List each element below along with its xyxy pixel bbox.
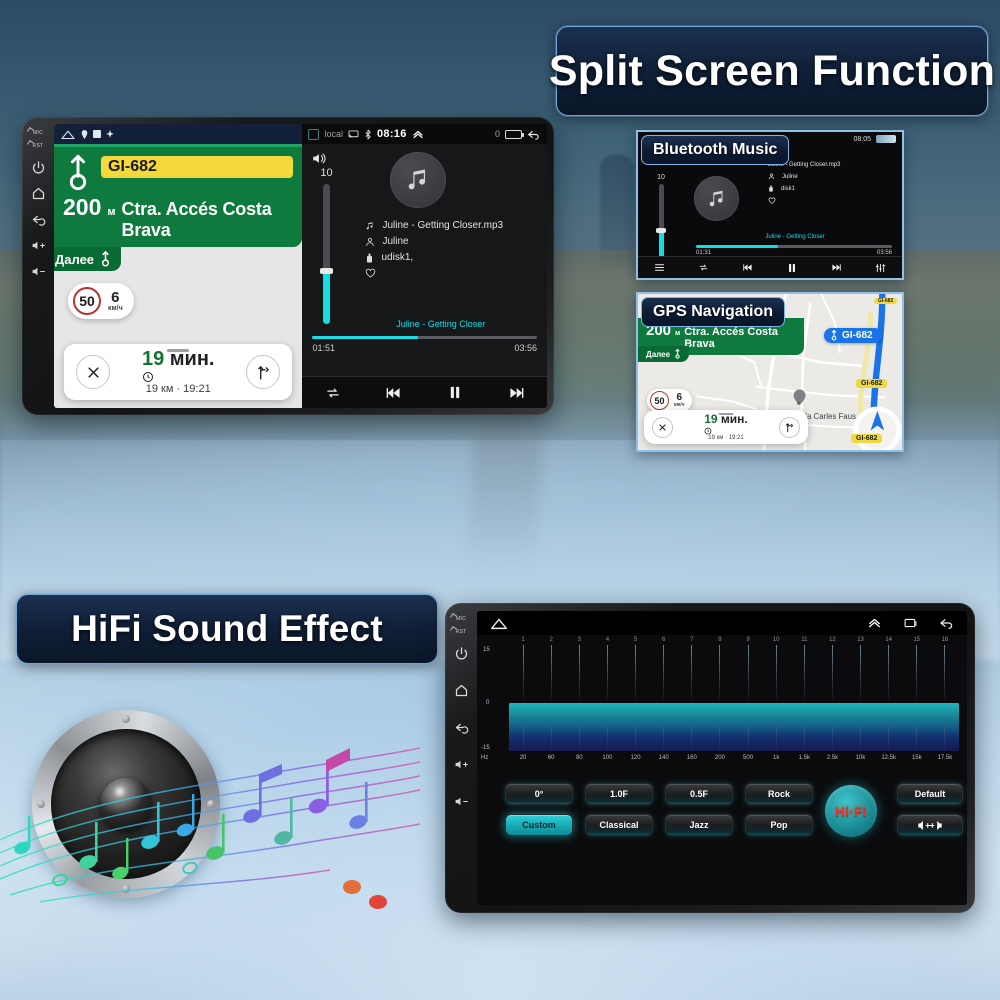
nav-instruction-card: GI-682 200 м Ctra. Accés Costa Brava [54,147,302,247]
eq-tick [903,645,931,700]
back-icon[interactable] [31,212,46,227]
album-art [390,152,446,208]
balance-button[interactable] [897,814,963,836]
bt-track-metadata: Juline - Getting Closer.mp3 Juline disk1 [768,162,840,204]
gps-next-maneuver: Далее [638,346,689,362]
home-icon [60,129,76,140]
route-options-icon [255,364,272,381]
reset-label: RST [456,629,467,635]
route-options-button[interactable] [246,355,280,389]
inset-gps-navigation[interactable]: Escola Carles Faus GI-682 GI-682 GI-682 … [636,292,904,452]
mic-label: MIC [33,130,43,136]
gps-speed-limit: 50 [650,391,669,410]
eq-tick [593,645,621,700]
volume-slider[interactable] [323,184,330,324]
eq-band-number: 11 [790,637,818,643]
preset-custom[interactable]: Custom [505,814,573,836]
eq-band-number: 15 [903,637,931,643]
bt-progress-area[interactable]: 01:31 03:56 [696,245,892,256]
eq-tick [875,727,903,751]
eq-unit-screen: 12345678910111213141516 15 0 -15 Hz 2060… [477,611,967,905]
eq-frequency-label: 120 [622,755,650,761]
eq-tick [818,727,846,751]
bt-progress-bar[interactable] [696,245,892,248]
drag-handle[interactable] [167,349,189,352]
main-unit-screen: GI-682 200 м Ctra. Accés Costa Brava Дал… [54,124,547,408]
road [466,420,544,570]
navigation-pane[interactable]: GI-682 200 м Ctra. Accés Costa Brava Дал… [54,124,302,408]
gps-eta-minutes: 19 [704,412,717,426]
eq-tick [509,645,537,700]
eq-frequency-label: 17.5k [931,755,959,761]
eq-band-numbers: 12345678910111213141516 [509,637,959,643]
eq-tick [762,645,790,700]
eq-tick [593,727,621,751]
gps-distance-unit: м [675,330,680,337]
eq-tick [706,727,734,751]
eq-tick [903,727,931,751]
preset-classical[interactable]: Classical [585,814,653,836]
bt-duration-time: 03:56 [877,250,892,256]
speed-indicator: 50 6 км/ч [68,283,134,319]
volume-control[interactable]: 10 [312,152,340,324]
eq-band-number: 3 [565,637,593,643]
repeat-icon[interactable] [325,386,341,400]
eta-detail: 19 км · 19:21 [142,383,215,396]
eq-frequency-label: 100 [593,755,621,761]
gps-route-options-button[interactable] [779,417,800,438]
media-status-bar: local 08:16 0 [302,124,547,144]
eq-tick [875,645,903,700]
bt-media-controls[interactable] [638,256,902,278]
eq-tick [565,645,593,700]
battery-icon [505,130,522,139]
source-row: udisk1, [365,252,503,263]
eq-frequency-label: 160 [678,755,706,761]
app-icon [308,129,319,140]
hifi-knob-label: Hi·Fi [835,804,866,819]
back-icon[interactable] [939,617,955,629]
eq-band-number: 16 [931,637,959,643]
usb-drive-icon [768,185,774,192]
eq-tick [537,727,565,751]
track-metadata: Juline - Getting Closer.mp3 Juline udisk… [365,220,503,278]
volume-down-icon[interactable] [454,794,469,809]
bt-source-row: disk1 [768,185,840,192]
speed-unit: км/ч [108,305,123,312]
gps-icon [106,130,114,139]
duration-time: 03:56 [514,343,537,353]
close-navigation-button[interactable] [76,355,110,389]
equalizer-head-unit: MIC RST 12345678910111213141516 15 0 -15 [445,603,975,913]
eta-card[interactable]: 19 мин. 19 км · 19:21 [64,344,292,400]
eq-band-number: 14 [875,637,903,643]
music-notes-graphic [0,690,420,920]
eq-band-number: 7 [678,637,706,643]
bt-track-artist: Juline [782,174,798,180]
pause-icon[interactable] [448,385,462,400]
eq-tick [847,645,875,700]
person-icon [365,237,375,247]
volume-up-icon[interactable] [31,238,46,253]
eq-band-number: 12 [818,637,846,643]
eq-unit-hardware-buttons: MIC RST [445,603,477,913]
media-player-pane[interactable]: local 08:16 0 10 [302,124,547,408]
track-file-row: Juline - Getting Closer.mp3 [365,220,503,231]
map-shield-bottom: GI-682 [851,434,882,443]
volume-value: 10 [312,167,340,179]
gps-speed-unit: км/ч [674,403,685,408]
preset-0deg[interactable]: 0° [505,783,573,805]
recents-icon [93,130,101,138]
roundabout-small-icon [100,251,111,267]
close-icon [658,423,667,432]
status-source-text: local [324,129,343,139]
eq-tick [762,727,790,751]
pause-icon[interactable] [787,263,797,273]
eq-tick [537,645,565,700]
clock-icon [142,371,154,383]
gps-drag-handle[interactable] [719,413,734,415]
nav-distance: 200 [63,196,101,219]
eq-frequency-label: 15k [903,755,931,761]
clock-icon [704,427,712,435]
reset-label: RST [33,143,44,149]
bt-status-time: 08:05 [853,136,871,143]
eq-frequency-label: 12.5k [875,755,903,761]
eq-band-number: 10 [762,637,790,643]
eq-band-number: 13 [847,637,875,643]
repeat-icon[interactable] [698,263,709,272]
roundabout-small-icon [830,330,838,341]
map-shield-secondary: GI-682 [856,379,887,388]
eq-tick [678,645,706,700]
eq-band-number: 9 [734,637,762,643]
music-note-icon [404,166,432,194]
previous-icon[interactable] [742,263,754,272]
nav-next-label: Далее [55,252,94,267]
favorite-row[interactable] [365,268,503,278]
bt-artist-row: Juline [768,173,840,180]
gps-eta-card[interactable]: 19 мин. 19 км · 19:21 [644,410,808,444]
eq-band-number: 8 [706,637,734,643]
eq-y-max-label: 15 [483,647,490,653]
eq-tick [650,645,678,700]
track-artist: Juline [382,236,408,247]
banner-split-screen: Split Screen Function [556,26,988,116]
bt-volume-slider[interactable] [659,184,664,260]
bt-progress-fill [696,245,778,248]
preset-0-5f[interactable]: 0.5F [665,783,733,805]
balance-speaker-icon [917,819,943,832]
preset-jazz[interactable]: Jazz [665,814,733,836]
eq-y-min-label: -15 [481,745,490,751]
eq-tick [790,645,818,700]
previous-icon[interactable] [385,386,403,400]
eq-frequency-labels: 2060801001201401602005001k1.5k2.5k10k12.… [509,755,959,761]
main-head-unit: MIC RST [22,117,554,415]
eq-tick [790,727,818,751]
route-options-icon [784,422,795,433]
banner-hifi-sound: HiFi Sound Effect [16,594,438,664]
eq-tick [931,727,959,751]
roundabout-small-icon [674,349,681,359]
music-note-icon [365,221,375,231]
current-speed-value: 6 [108,290,123,305]
home-icon[interactable] [31,186,46,201]
eq-frequency-label: 500 [734,755,762,761]
cast-icon [348,130,359,139]
heart-icon[interactable] [365,268,376,278]
speed-limit-value: 50 [73,287,101,315]
equalizer-icon[interactable] [875,263,886,273]
eq-band-number: 1 [509,637,537,643]
eq-frequency-label: 200 [706,755,734,761]
roundabout-arrow-icon [63,154,93,192]
bt-favorite-row[interactable] [768,197,840,204]
gps-eta-detail: 19 км · 19:21 [704,435,748,442]
nav-status-bar [54,124,302,144]
eq-tick [565,727,593,751]
power-icon[interactable] [31,160,46,175]
gps-close-button[interactable] [652,417,673,438]
eq-preset-grid[interactable]: 0° 1.0F 0.5F Rock Custom Classical Jazz … [505,783,813,836]
eq-tick [931,645,959,700]
now-playing-title: Juline - Getting Closer [342,319,539,329]
eq-tick [734,727,762,751]
eq-tick [847,727,875,751]
close-icon [86,365,101,380]
eq-tick [818,645,846,700]
battery-icon [876,135,896,143]
gps-speed-indicator: 50 6 км/ч [647,389,692,412]
eq-x-axis-label: Hz [481,755,488,761]
preset-rock[interactable]: Rock [745,783,813,805]
main-unit-hardware-buttons: MIC RST [22,117,54,415]
eta-summary: 19 мин. 19 км · 19:21 [142,347,215,396]
eq-frequency-label: 60 [537,755,565,761]
eta-minutes: 19 [142,348,164,370]
default-button[interactable]: Default [897,783,963,805]
eq-frequency-label: 2.5k [818,755,846,761]
bt-volume-knob[interactable] [656,228,666,233]
volume-down-icon[interactable] [31,264,46,279]
bt-volume-control[interactable]: 10 [650,174,672,260]
bt-track-source: disk1 [781,186,795,192]
heart-icon[interactable] [768,197,776,204]
hifi-knob-button[interactable]: Hi·Fi [825,785,877,837]
power-icon[interactable] [454,646,469,661]
exit-badge: GI-682 [101,156,293,178]
next-icon[interactable] [830,263,842,272]
bt-volume-value: 10 [650,174,672,181]
chevron-up-icon[interactable] [867,617,882,629]
eq-y-zero-label: 0 [486,700,489,706]
bluetooth-icon [364,129,372,140]
eq-band-number: 6 [650,637,678,643]
eq-tick-marks-lower [509,727,959,751]
eq-status-bar [477,611,967,635]
artist-row: Juline [365,236,503,247]
nav-next-maneuver: Далее [54,247,121,271]
eq-tick [622,727,650,751]
eq-frequency-label: 140 [650,755,678,761]
eq-band-number: 5 [622,637,650,643]
usb-drive-icon [365,253,374,263]
eq-tick [622,645,650,700]
back-icon[interactable] [527,129,541,140]
eq-tick [706,645,734,700]
bt-now-playing: Juline - Getting Closer [698,234,892,240]
inset-bluetooth-music[interactable]: 08:05 Bluetooth Music 10 Juline - Gettin… [636,130,904,280]
equalizer-graph[interactable]: 12345678910111213141516 15 0 -15 Hz 2060… [477,635,967,767]
map-shield-primary: GI-682 [824,328,882,343]
elapsed-time: 01:51 [312,343,335,353]
bt-album-art [694,176,739,221]
eq-band-number: 2 [537,637,565,643]
progress-fill [312,336,418,339]
preset-pop[interactable]: Pop [745,814,813,836]
inset-bluetooth-label: Bluetooth Music [641,135,789,165]
eq-frequency-label: 80 [565,755,593,761]
preset-1-0f[interactable]: 1.0F [585,783,653,805]
home-icon[interactable] [489,617,509,630]
person-icon [768,173,775,180]
gps-next-label: Далее [646,350,670,359]
media-controls[interactable] [302,376,547,408]
banner-split-screen-text: Split Screen Function [549,47,995,96]
volume-slider-fill [323,271,330,324]
home-icon[interactable] [454,683,469,698]
volume-up-icon[interactable] [454,757,469,772]
eq-tick-marks-upper [509,645,959,700]
track-filename: Juline - Getting Closer.mp3 [382,220,503,231]
eq-frequency-label: 1.5k [790,755,818,761]
eq-tick [734,645,762,700]
chevron-up-icon[interactable] [412,129,424,139]
eq-frequency-label: 20 [509,755,537,761]
banner-hifi-sound-text: HiFi Sound Effect [71,608,383,650]
next-icon[interactable] [507,386,525,400]
eq-tick [509,727,537,751]
mic-label: MIC [456,616,466,622]
map-shield-top: GI-682 [874,298,897,304]
inset-gps-label: GPS Navigation [641,297,785,327]
nav-street-name: Ctra. Accés Costa Brava [122,199,294,241]
bt-elapsed-time: 01:31 [696,250,711,256]
progress-bar[interactable] [312,336,537,339]
nav-distance-unit: м [107,206,115,218]
status-time: 08:16 [377,128,407,140]
eq-tick [678,727,706,751]
eq-band-number: 4 [593,637,621,643]
track-source: udisk1, [381,252,413,263]
eq-tick [650,727,678,751]
recents-icon[interactable] [903,617,918,629]
eq-frequency-label: 1k [762,755,790,761]
music-note-icon [706,188,728,210]
volume-slider-knob[interactable] [320,268,333,274]
gps-street-name: Ctra. Accés Costa Brava [684,326,796,350]
list-icon[interactable] [654,263,665,272]
progress-area[interactable]: 01:51 03:56 [312,336,537,353]
location-icon [81,130,88,139]
back-icon[interactable] [454,720,469,735]
battery-level: 0 [495,129,500,139]
map-shield-primary-text: GI-682 [842,330,873,341]
eq-frequency-label: 10k [847,755,875,761]
volume-icon [312,152,327,165]
